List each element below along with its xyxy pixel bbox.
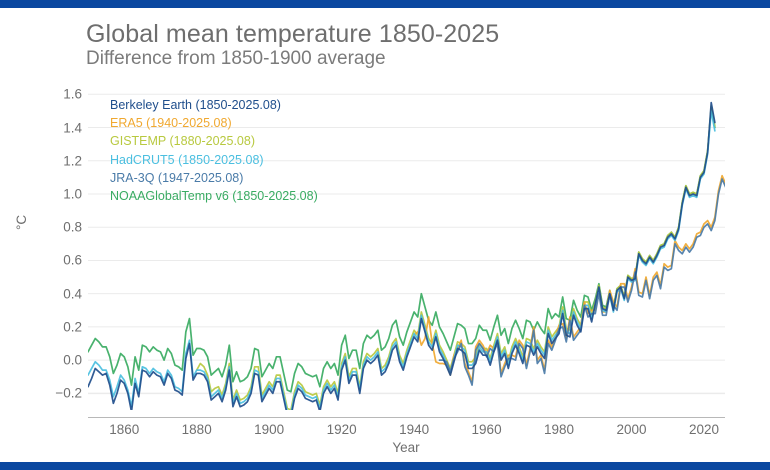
series-line xyxy=(414,98,725,382)
legend-item: Berkeley Earth (1850-2025.08) xyxy=(110,96,318,114)
page-title: Global mean temperature 1850-2025 xyxy=(86,20,499,49)
y-axis-tick-label: 1.4 xyxy=(38,120,82,135)
series-line xyxy=(439,101,725,385)
legend-item: ERA5 (1940-2025.08) xyxy=(110,114,318,132)
x-axis-tick-label: 1900 xyxy=(254,422,284,437)
y-axis-label: °C xyxy=(14,215,29,230)
x-axis-tick-label: 2000 xyxy=(616,422,646,437)
y-axis-ticks: −0.20.00.20.40.60.81.01.21.41.6 xyxy=(32,81,82,410)
x-axis-tick-label: 1940 xyxy=(399,422,429,437)
x-axis-tick-label: 1860 xyxy=(109,422,139,437)
y-axis-tick-label: 0.0 xyxy=(38,353,82,368)
y-axis-tick-label: 1.0 xyxy=(38,186,82,201)
y-axis-tick-label: −0.2 xyxy=(38,386,82,401)
x-axis-line xyxy=(88,417,725,418)
x-axis-tick-label: 1880 xyxy=(182,422,212,437)
legend-item: HadCRUT5 (1850-2025.08) xyxy=(110,151,318,169)
y-axis-tick-label: 0.6 xyxy=(38,253,82,268)
y-axis-tick-label: 1.6 xyxy=(38,87,82,102)
page-subtitle: Difference from 1850-1900 average xyxy=(86,48,386,70)
y-axis-tick-label: 0.2 xyxy=(38,319,82,334)
x-axis-tick-label: 1920 xyxy=(327,422,357,437)
x-axis-tick-label: 1960 xyxy=(472,422,502,437)
x-axis-tick-label: 1980 xyxy=(544,422,574,437)
chart-legend: Berkeley Earth (1850-2025.08)ERA5 (1940-… xyxy=(110,96,318,205)
bottom-accent-bar xyxy=(0,462,770,470)
x-axis-label: Year xyxy=(392,440,419,455)
y-axis-tick-label: 0.8 xyxy=(38,220,82,235)
legend-item: JRA-3Q (1947-2025.08) xyxy=(110,169,318,187)
y-axis-tick-label: 1.2 xyxy=(38,153,82,168)
y-axis-tick-label: 0.4 xyxy=(38,286,82,301)
legend-item: NOAAGlobalTemp v6 (1850-2025.08) xyxy=(110,187,318,205)
x-axis-tick-label: 2020 xyxy=(689,422,719,437)
chart-canvas: Global mean temperature 1850-2025 Differ… xyxy=(0,8,770,462)
top-accent-bar xyxy=(0,0,770,8)
legend-item: GISTEMP (1880-2025.08) xyxy=(110,132,318,150)
